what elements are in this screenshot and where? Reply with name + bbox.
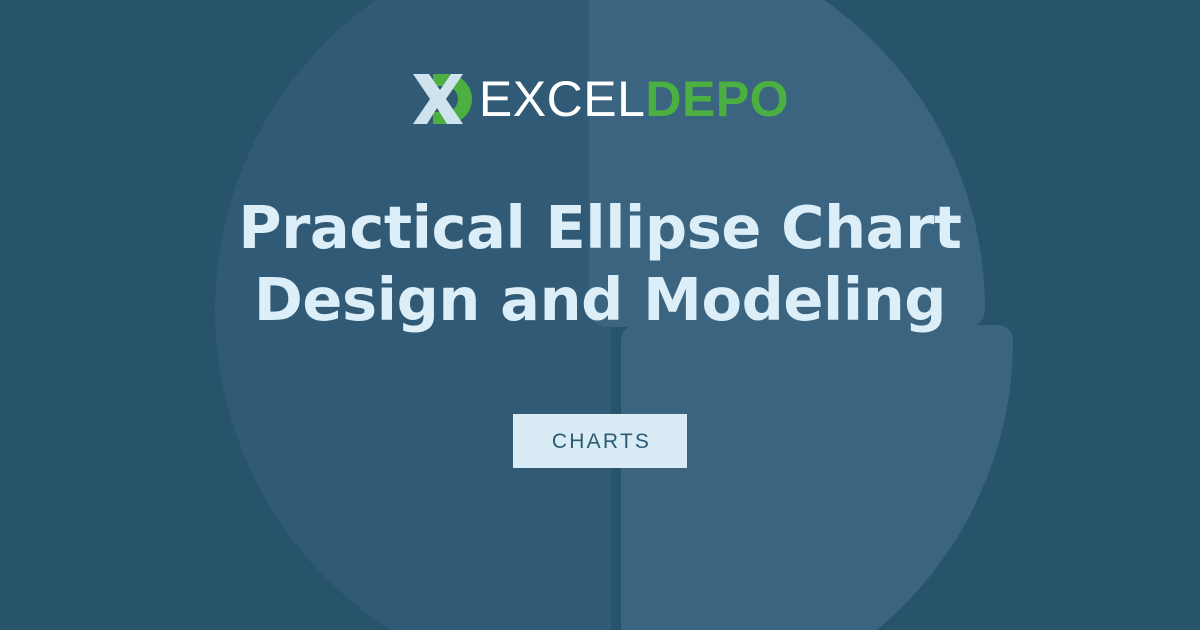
page-title-line-1: Practical Ellipse Chart [100, 192, 1100, 264]
xd-monogram-icon [411, 70, 477, 128]
social-share-card: EXCEL DEPO Practical Ellipse Chart Desig… [0, 0, 1200, 630]
card-content: EXCEL DEPO Practical Ellipse Chart Desig… [0, 0, 1200, 630]
brand-wordmark-secondary: DEPO [645, 74, 789, 124]
page-title: Practical Ellipse Chart Design and Model… [100, 192, 1100, 336]
brand-logo[interactable]: EXCEL DEPO [411, 68, 789, 130]
category-badge[interactable]: CHARTS [513, 414, 687, 468]
brand-wordmark-primary: EXCEL [479, 74, 645, 124]
brand-wordmark: EXCEL DEPO [479, 74, 789, 124]
page-title-line-2: Design and Modeling [100, 264, 1100, 336]
